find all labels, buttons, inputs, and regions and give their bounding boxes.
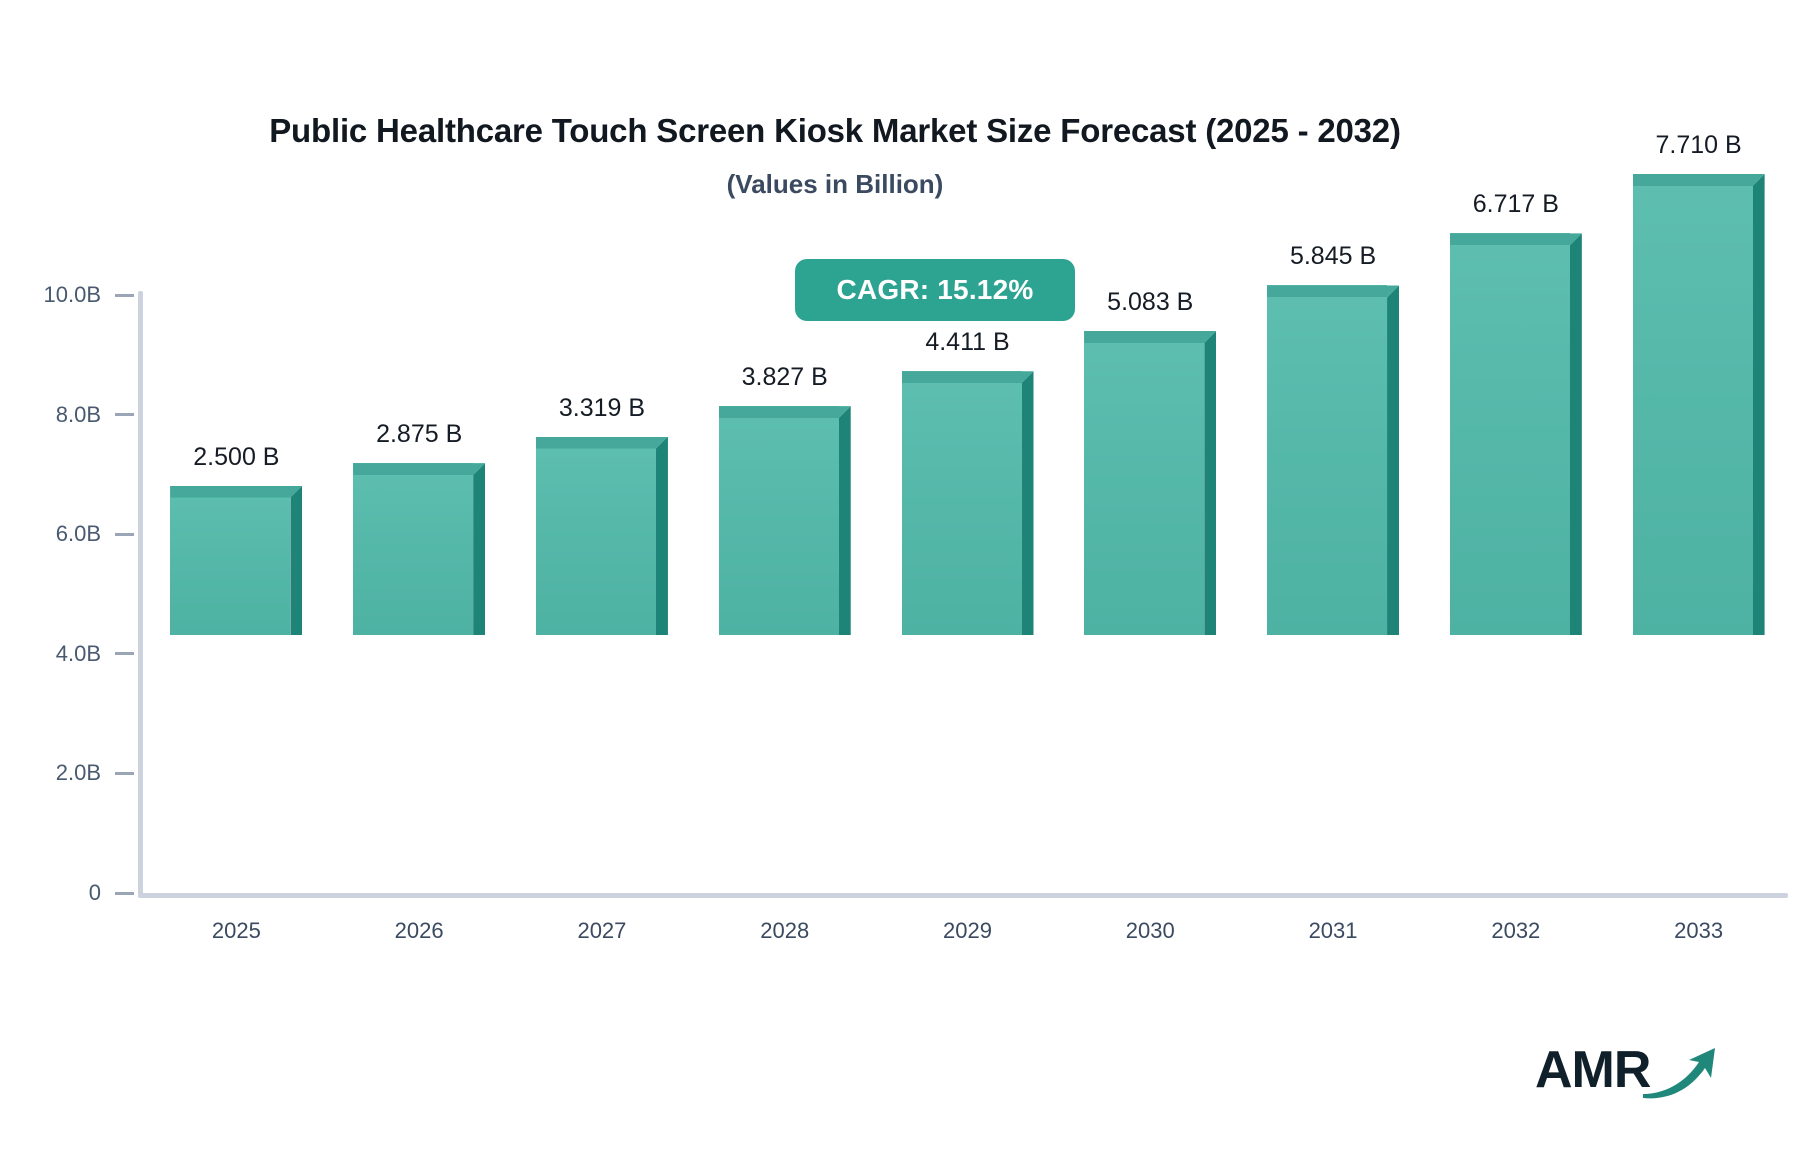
bar-front-face: [1450, 233, 1570, 635]
bar-side-face: [839, 406, 851, 635]
bar-value-label: 6.717 B: [1428, 190, 1604, 219]
bar-value-label: 3.827 B: [697, 363, 873, 392]
amr-logo: AMR: [1535, 1038, 1715, 1110]
bar-value-label: 2.875 B: [331, 420, 507, 449]
bar-top-face: [1267, 285, 1399, 297]
bar-series: 2.500 B20252.875 B20263.319 B20273.827 B…: [145, 0, 1790, 898]
bar[interactable]: 5.083 B: [1084, 331, 1216, 635]
bar-group[interactable]: 2.500 B: [170, 486, 302, 636]
y-axis-tick: 4.0B: [56, 641, 134, 667]
chart-page: Public Healthcare Touch Screen Kiosk Mar…: [0, 0, 1800, 1156]
bar-group[interactable]: 5.845 B: [1267, 285, 1399, 635]
bar-value-label: 3.319 B: [514, 394, 690, 423]
bar-side-face: [656, 437, 668, 635]
bar-side-face: [473, 463, 485, 635]
bar-front-face: [1267, 285, 1387, 635]
y-axis-tick: 0: [89, 880, 134, 906]
x-axis-tick-label: 2030: [1062, 918, 1238, 944]
bar[interactable]: 6.717 B: [1450, 233, 1582, 635]
growth-arrow-icon: [1641, 1044, 1719, 1100]
bar[interactable]: 3.319 B: [536, 437, 668, 635]
bar-value-label: 2.500 B: [148, 443, 324, 472]
bar-side-face: [1753, 174, 1765, 635]
y-axis-tick-mark: [115, 892, 134, 895]
bar-group[interactable]: 7.710 B: [1633, 174, 1765, 635]
bar-group[interactable]: 3.827 B: [719, 406, 851, 635]
bar[interactable]: 7.710 B: [1633, 174, 1765, 635]
bar-value-label: 7.710 B: [1611, 131, 1787, 160]
x-axis-tick-label: 2028: [697, 918, 873, 944]
bar[interactable]: 3.827 B: [719, 406, 851, 635]
bar[interactable]: 2.875 B: [353, 463, 485, 635]
x-axis-tick-label: 2025: [148, 918, 324, 944]
bar-top-face: [902, 371, 1034, 383]
bar-value-label: 4.411 B: [880, 328, 1056, 357]
bar-front-face: [170, 486, 290, 636]
x-axis-tick-label: 2029: [880, 918, 1056, 944]
x-axis-tick-label: 2033: [1611, 918, 1787, 944]
bar-group[interactable]: 5.083 B: [1084, 331, 1216, 635]
y-axis-tick-label: 6.0B: [56, 521, 101, 547]
y-axis-tick-label: 4.0B: [56, 641, 101, 667]
bar-front-face: [1084, 331, 1204, 635]
y-axis-line: [138, 291, 143, 897]
bar-value-label: 5.083 B: [1062, 288, 1238, 317]
y-axis-tick-mark: [115, 652, 134, 655]
y-axis-tick-mark: [115, 772, 134, 775]
bar-front-face: [719, 406, 839, 635]
bar-top-face: [1084, 331, 1216, 343]
bar-group[interactable]: 2.875 B: [353, 463, 485, 635]
bar-front-face: [536, 437, 656, 635]
bar-group[interactable]: 6.717 B: [1450, 233, 1582, 635]
y-axis-tick-label: 0: [89, 880, 101, 906]
bar-side-face: [1204, 331, 1216, 635]
y-axis-tick-label: 2.0B: [56, 760, 101, 786]
x-axis-tick-label: 2031: [1245, 918, 1421, 944]
y-axis-tick: 2.0B: [56, 760, 134, 786]
y-axis-tick-mark: [115, 533, 134, 536]
bar[interactable]: 5.845 B: [1267, 285, 1399, 635]
bar-side-face: [290, 486, 302, 636]
bar-top-face: [170, 486, 302, 498]
y-axis-tick: 10.0B: [44, 282, 135, 308]
bar-side-face: [1022, 371, 1034, 635]
y-axis-tick-label: 10.0B: [44, 282, 102, 308]
amr-logo-text: AMR: [1535, 1040, 1650, 1100]
x-axis-tick-label: 2027: [514, 918, 690, 944]
bar-top-face: [353, 463, 485, 475]
bar[interactable]: 4.411 B: [902, 371, 1034, 635]
bar-group[interactable]: 3.319 B: [536, 437, 668, 635]
bar-top-face: [719, 406, 851, 418]
bar-group[interactable]: 4.411 B: [902, 371, 1034, 635]
y-axis-tick-label: 8.0B: [56, 402, 101, 428]
y-axis-tick-mark: [115, 413, 134, 416]
y-axis-ticks: 02.0B4.0B6.0B8.0B10.0B: [0, 0, 134, 1156]
bar-front-face: [353, 463, 473, 635]
x-axis-tick-label: 2026: [331, 918, 507, 944]
x-axis-tick-label: 2032: [1428, 918, 1604, 944]
bar-front-face: [902, 371, 1022, 635]
bar[interactable]: 2.500 B: [170, 486, 302, 636]
y-axis-tick: 6.0B: [56, 521, 134, 547]
bar-front-face: [1633, 174, 1753, 635]
bar-top-face: [1633, 174, 1765, 186]
bar-top-face: [1450, 233, 1582, 245]
bar-side-face: [1387, 285, 1399, 635]
bar-side-face: [1570, 233, 1582, 635]
y-axis-tick-mark: [115, 294, 134, 297]
bar-top-face: [536, 437, 668, 449]
y-axis-tick: 8.0B: [56, 402, 134, 428]
bar-value-label: 5.845 B: [1245, 242, 1421, 271]
